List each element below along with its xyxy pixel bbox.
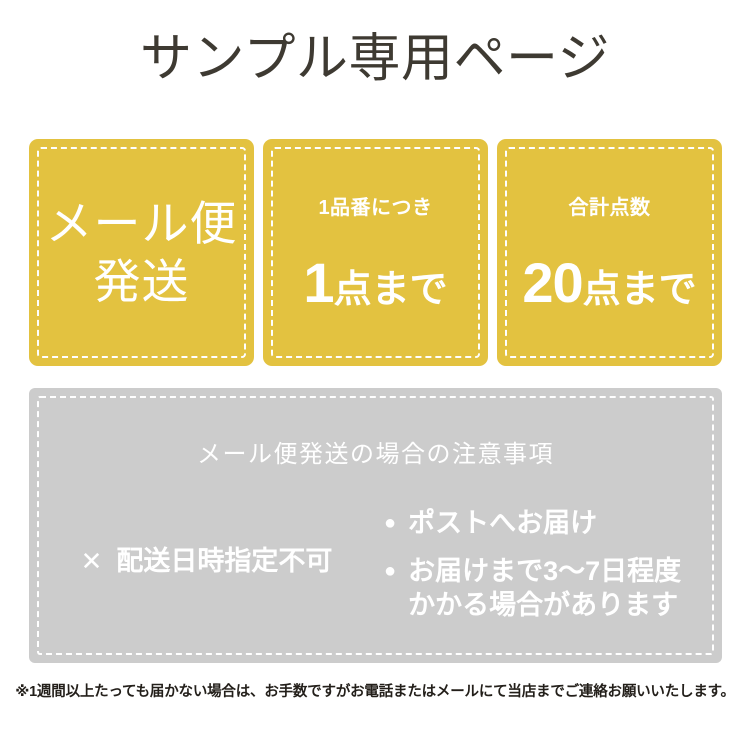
feature-box-shipping-method: メール便 発送: [29, 139, 254, 366]
notice-bullet-line1: お届けまで3〜7日程度: [408, 556, 681, 586]
total-limit-unit: 点まで: [583, 269, 697, 311]
notice-bullet-text: お届けまで3〜7日程度 かかる場合があります: [408, 554, 681, 622]
footer-note: ※1週間以上たっても届かない場合は、お手数ですがお電話またはメールにて当店までご…: [0, 682, 750, 702]
notice-restriction-column: ✕ 配送日時指定不可: [29, 506, 384, 578]
notice-bullet-item: ● ポストへお届け: [384, 506, 722, 540]
notice-bullet-line1: ポストへお届け: [408, 508, 597, 538]
notice-body: ✕ 配送日時指定不可 ● ポストへお届け ● お届けまで3〜7日程度 かかる場合…: [29, 506, 722, 646]
notice-bullet-line2: かかる場合があります: [408, 588, 681, 622]
total-limit-value: 20点まで: [497, 255, 722, 311]
notice-bullet-item: ● お届けまで3〜7日程度 かかる場合があります: [384, 554, 722, 622]
sample-shipping-banner: サンプル専用ページ メール便 発送 1品番につき 1点まで 合計点数: [0, 0, 750, 750]
shipping-method-line2: 発送: [29, 253, 254, 311]
feature-box-group: メール便 発送 1品番につき 1点まで 合計点数 20点まで: [29, 139, 722, 366]
bullet-dot-icon: ●: [384, 554, 396, 588]
x-mark-icon: ✕: [81, 548, 103, 574]
notice-restriction-label: 配送日時指定不可: [116, 544, 332, 578]
per-item-limit-caption: 1品番につき: [263, 195, 488, 221]
notice-restriction-item: ✕ 配送日時指定不可: [81, 544, 333, 578]
page-title: サンプル専用ページ: [0, 28, 750, 90]
feature-box-content: 1品番につき 1点まで: [263, 195, 488, 311]
per-item-limit-unit: 点まで: [334, 269, 448, 311]
shipping-method-line1: メール便: [29, 195, 254, 253]
per-item-limit-number: 1: [303, 251, 333, 314]
notice-bullet-text: ポストへお届け: [408, 506, 597, 540]
notice-heading: メール便発送の場合の注意事項: [29, 440, 722, 470]
bullet-dot-icon: ●: [384, 506, 396, 540]
notice-bullet-column: ● ポストへお届け ● お届けまで3〜7日程度 かかる場合があります: [384, 506, 722, 622]
feature-box-per-item-limit: 1品番につき 1点まで: [263, 139, 488, 366]
per-item-limit-value: 1点まで: [263, 255, 488, 311]
notice-panel: メール便発送の場合の注意事項 ✕ 配送日時指定不可 ● ポストへお届け ●: [29, 388, 722, 663]
total-limit-caption: 合計点数: [497, 195, 722, 221]
feature-box-total-limit: 合計点数 20点まで: [497, 139, 722, 366]
feature-box-content: 合計点数 20点まで: [497, 195, 722, 311]
total-limit-number: 20: [522, 251, 582, 314]
feature-box-content: メール便 発送: [29, 195, 254, 311]
